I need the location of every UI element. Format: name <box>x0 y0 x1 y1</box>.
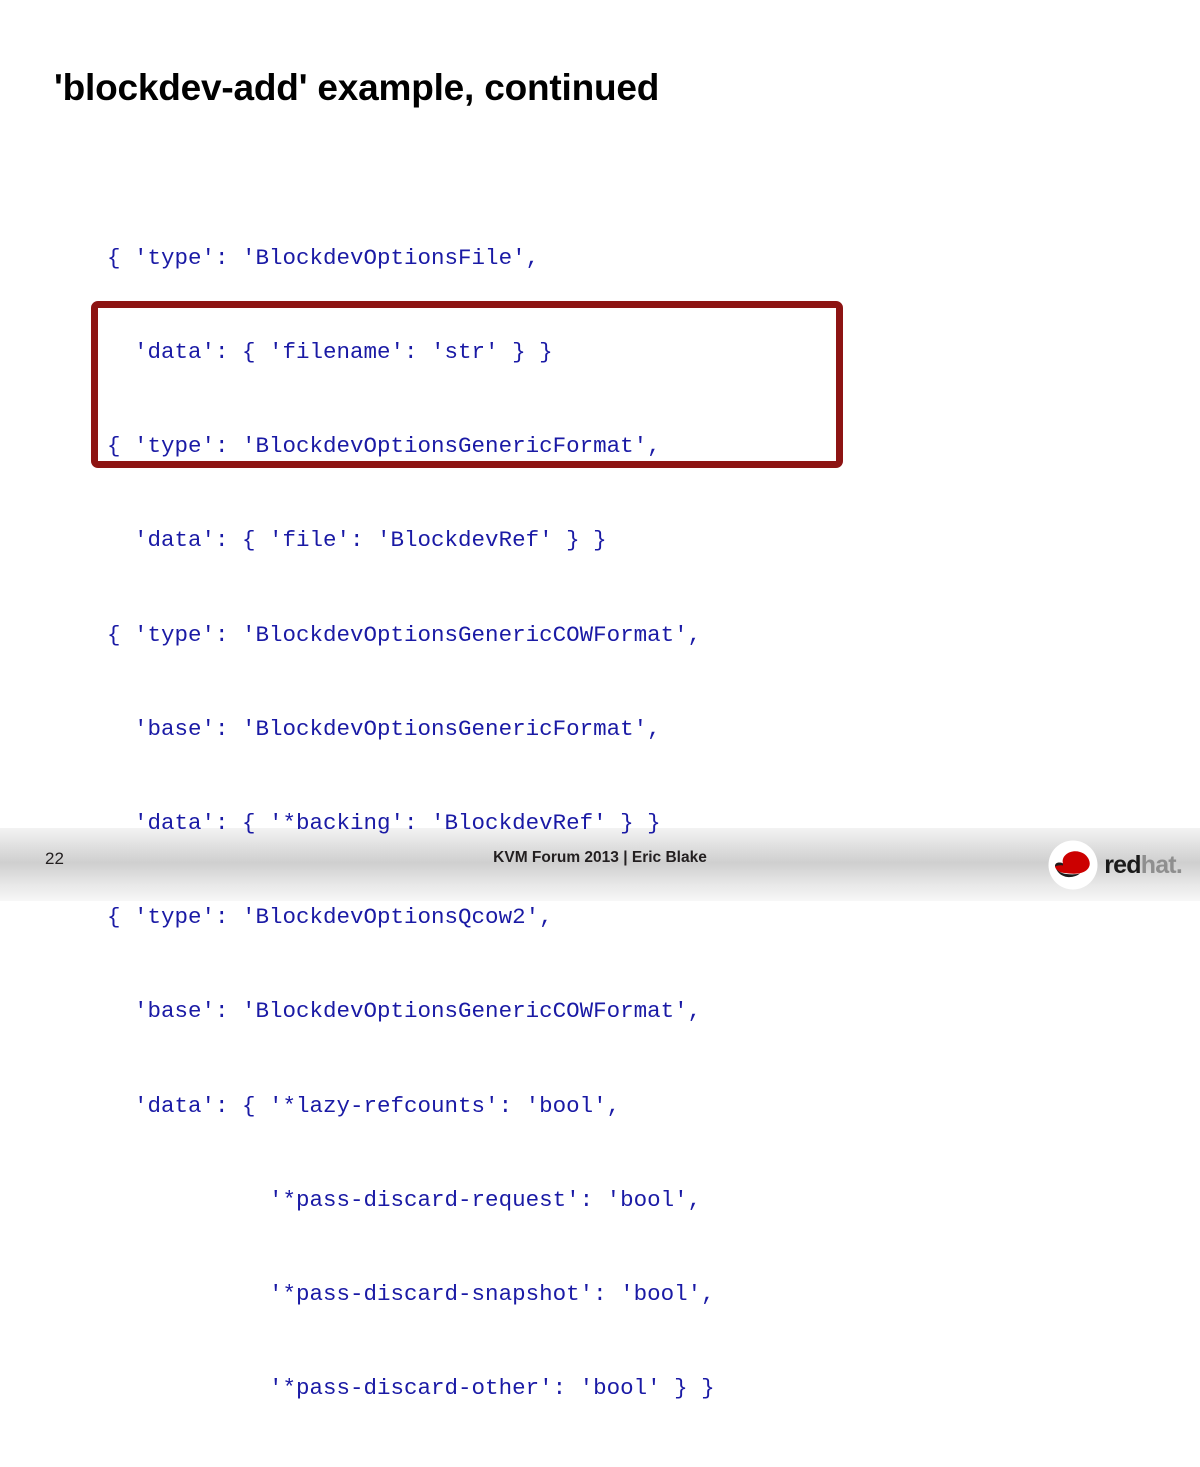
code-line: 'data': { '*lazy-refcounts': 'bool', <box>107 1091 715 1122</box>
redhat-word-hat: hat <box>1141 853 1176 878</box>
slide-title: 'blockdev-add' example, continued <box>54 68 659 109</box>
redhat-logo: redhat. <box>1048 839 1182 891</box>
code-line: '*pass-discard-other': 'bool' } } <box>107 1373 715 1404</box>
code-line: 'data': { 'filename': 'str' } } <box>107 337 715 368</box>
redhat-shadowman-icon <box>1048 840 1098 890</box>
code-line: { 'type': 'BlockdevOptionsFile', <box>107 243 715 274</box>
code-line: '*pass-discard-request': 'bool', <box>107 1185 715 1216</box>
redhat-logo-dot: . <box>1176 853 1182 878</box>
code-block: { 'type': 'BlockdevOptionsFile', 'data':… <box>107 180 715 1467</box>
code-line: { 'type': 'BlockdevOptionsGenericCOWForm… <box>107 620 715 651</box>
redhat-wordmark: redhat. <box>1104 853 1182 878</box>
code-line: 'data': { 'file': 'BlockdevRef' } } <box>107 525 715 556</box>
code-line: 'base': 'BlockdevOptionsGenericCOWFormat… <box>107 996 715 1027</box>
code-line: { 'type': 'BlockdevOptionsGenericFormat'… <box>107 431 715 462</box>
code-line: 'base': 'BlockdevOptionsGenericFormat', <box>107 714 715 745</box>
code-line: { 'type': 'BlockdevOptionsQcow2', <box>107 902 715 933</box>
code-line: '*pass-discard-snapshot': 'bool', <box>107 1279 715 1310</box>
presentation-slide: 'blockdev-add' example, continued { 'typ… <box>0 0 1200 900</box>
redhat-word-red: red <box>1104 853 1141 878</box>
code-line: 'data': { '*backing': 'BlockdevRef' } } <box>107 808 715 839</box>
